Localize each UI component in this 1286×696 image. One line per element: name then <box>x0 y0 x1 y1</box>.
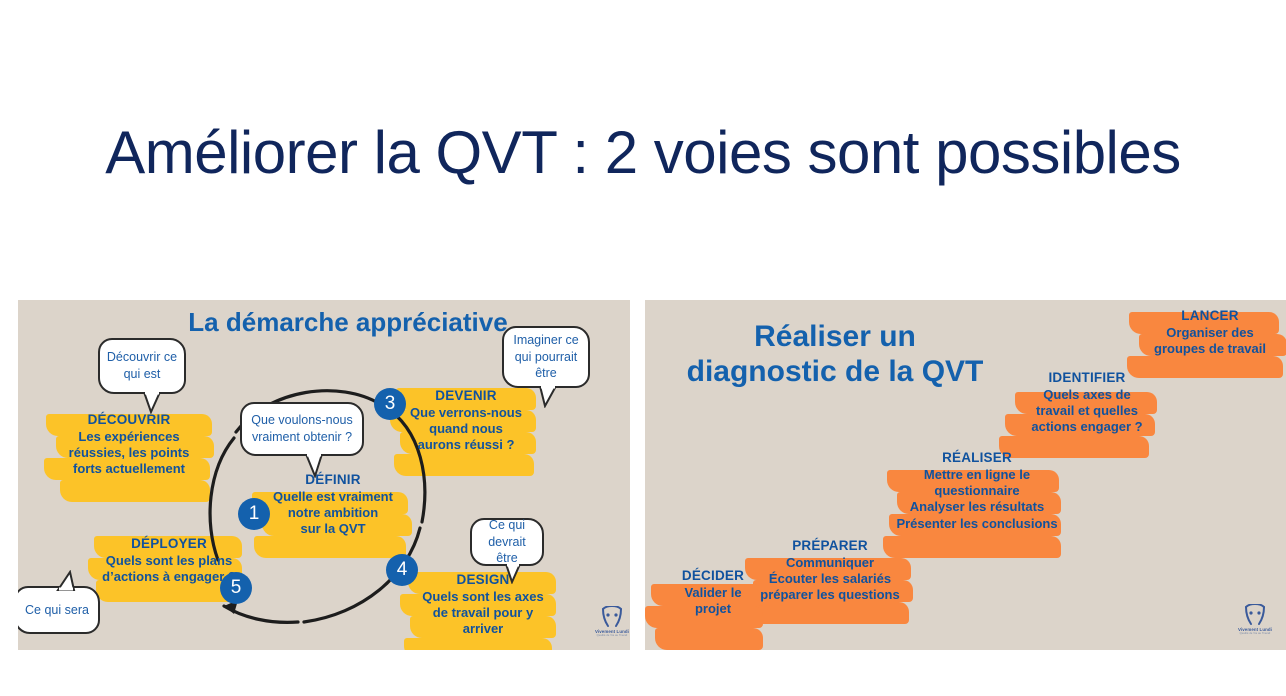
bubble-text: Ce qui devrait être <box>478 517 536 568</box>
step-title: DÉPLOYER <box>94 536 244 553</box>
line: actions engager ? <box>1031 419 1142 434</box>
line: aurons réussi ? <box>418 437 515 452</box>
bubble-tail-icon <box>142 392 164 414</box>
bubble-deployer: Ce qui sera <box>18 586 100 634</box>
page-title: Améliorer la QVT : 2 voies sont possible… <box>0 118 1286 187</box>
step-devenir[interactable]: DEVENIR Que verrons-nous quand nous auro… <box>396 388 536 454</box>
line: de travail pour y <box>433 605 533 620</box>
line: projet <box>695 601 731 616</box>
line: forts actuellement <box>73 461 185 476</box>
step-body: Que verrons-nous quand nous aurons réuss… <box>396 405 536 454</box>
line: Quels sont les plans <box>106 553 232 568</box>
step-body: Quelle est vraiment notre ambition sur l… <box>258 489 408 538</box>
highlight-swatch <box>394 454 534 476</box>
bubble-definir: Que voulons-nous vraiment obtenir ? <box>240 402 364 456</box>
line: Organiser des <box>1166 325 1253 340</box>
line: réussies, les points <box>69 445 190 460</box>
step-body: Communiquer Écouter les salariés prépare… <box>749 555 911 604</box>
line: Quelle est vraiment <box>273 489 393 504</box>
line: travail et quelles <box>1036 403 1138 418</box>
step-title: DEVENIR <box>396 388 536 405</box>
step-title: DESIGN <box>408 572 558 589</box>
step-title: DÉCIDER <box>667 568 759 585</box>
right-panel-heading: Réaliser un diagnostic de la QVT <box>675 320 995 389</box>
step-title: DÉCOUVRIR <box>44 412 214 429</box>
step-body: Quels sont les axes de travail pour y ar… <box>408 589 558 638</box>
step-definir[interactable]: DÉFINIR Quelle est vraiment notre ambiti… <box>258 472 408 538</box>
bubble-text: Ce qui sera <box>25 602 89 619</box>
line: d’actions à engager ? <box>102 569 236 584</box>
step-body: Les expériences réussies, les points for… <box>44 429 214 478</box>
bubble-tail-icon <box>56 570 78 592</box>
bubble-design: Ce qui devrait être <box>470 518 544 566</box>
step-body: Quels axes de travail et quelles actions… <box>1017 387 1157 436</box>
step-realiser[interactable]: RÉALISER Mettre en ligne le questionnair… <box>893 450 1061 532</box>
vivement-lundi-logo-icon <box>1242 604 1268 626</box>
highlight-swatch <box>741 602 909 624</box>
step-body: Valider le projet <box>667 585 759 618</box>
bubble-tail-icon <box>538 386 560 408</box>
highlight-swatch <box>254 536 406 558</box>
step-number-1: 1 <box>238 498 270 530</box>
step-decouvrir[interactable]: DÉCOUVRIR Les expériences réussies, les … <box>44 412 214 478</box>
step-title: RÉALISER <box>893 450 1061 467</box>
line: groupes de travail <box>1154 341 1266 356</box>
line: questionnaire <box>934 483 1019 498</box>
highlight-swatch <box>404 638 552 650</box>
line: Quels sont les axes <box>422 589 543 604</box>
line: Mettre en ligne le <box>924 467 1030 482</box>
bubble-tail-icon <box>304 454 326 478</box>
line: sur la QVT <box>300 521 365 536</box>
step-design[interactable]: DESIGN Quels sont les axes de travail po… <box>408 572 558 638</box>
line: notre ambition <box>288 505 378 520</box>
left-panel-appreciative-approach: La démarche appréciative DÉCOUVRIR Les e… <box>18 300 630 650</box>
bubble-text: Imaginer ce qui pourrait être <box>510 332 582 383</box>
vivement-lundi-logo-icon <box>599 606 625 628</box>
bubble-tail-icon <box>504 564 524 584</box>
line: Que verrons-nous <box>410 405 522 420</box>
line: préparer les questions <box>760 587 899 602</box>
step-preparer[interactable]: PRÉPARER Communiquer Écouter les salarié… <box>749 538 911 604</box>
highlight-swatch <box>60 480 210 502</box>
step-number-3: 3 <box>374 388 406 420</box>
bubble-decouvrir: Découvrir ce qui est <box>98 338 186 394</box>
line: quand nous <box>429 421 503 436</box>
step-number-4: 4 <box>386 554 418 586</box>
bubble-text: Découvrir ce qui est <box>106 349 178 383</box>
left-panel-heading: La démarche appréciative <box>128 308 568 338</box>
step-lancer[interactable]: LANCER Organiser des groupes de travail <box>1135 308 1285 357</box>
line: arriver <box>463 621 503 636</box>
brand-logo-right: Vivement Lundi Qualité de Vie au Travail <box>1231 604 1279 644</box>
line: Quels axes de <box>1043 387 1130 402</box>
line: Communiquer <box>786 555 874 570</box>
step-title: DÉFINIR <box>258 472 408 489</box>
step-title: IDENTIFIER <box>1017 370 1157 387</box>
step-decider[interactable]: DÉCIDER Valider le projet <box>667 568 759 617</box>
logo-tagline: Qualité de Vie au Travail <box>1231 632 1279 635</box>
logo-tagline: Qualité de Vie au Travail <box>588 634 630 637</box>
bubble-text: Que voulons-nous vraiment obtenir ? <box>248 412 356 446</box>
step-body: Organiser des groupes de travail <box>1135 325 1285 358</box>
step-number-5: 5 <box>220 572 252 604</box>
step-title: LANCER <box>1135 308 1285 325</box>
line: Présenter les conclusions <box>896 516 1057 531</box>
line: Valider le <box>684 585 741 600</box>
highlight-swatch <box>655 628 763 650</box>
line: Les expériences <box>78 429 179 444</box>
step-identifier[interactable]: IDENTIFIER Quels axes de travail et quel… <box>1017 370 1157 436</box>
line: Écouter les salariés <box>769 571 891 586</box>
step-body: Mettre en ligne le questionnaire Analyse… <box>893 467 1061 532</box>
bubble-devenir: Imaginer ce qui pourrait être <box>502 326 590 388</box>
right-panel-qvt-diagnostic: Réaliser un diagnostic de la QVT LANCER … <box>645 300 1286 650</box>
step-deployer[interactable]: DÉPLOYER Quels sont les plans d’actions … <box>94 536 244 585</box>
step-title: PRÉPARER <box>749 538 911 555</box>
brand-logo-left: Vivement Lundi Qualité de Vie au Travail <box>588 606 630 646</box>
line: Analyser les résultats <box>910 499 1044 514</box>
